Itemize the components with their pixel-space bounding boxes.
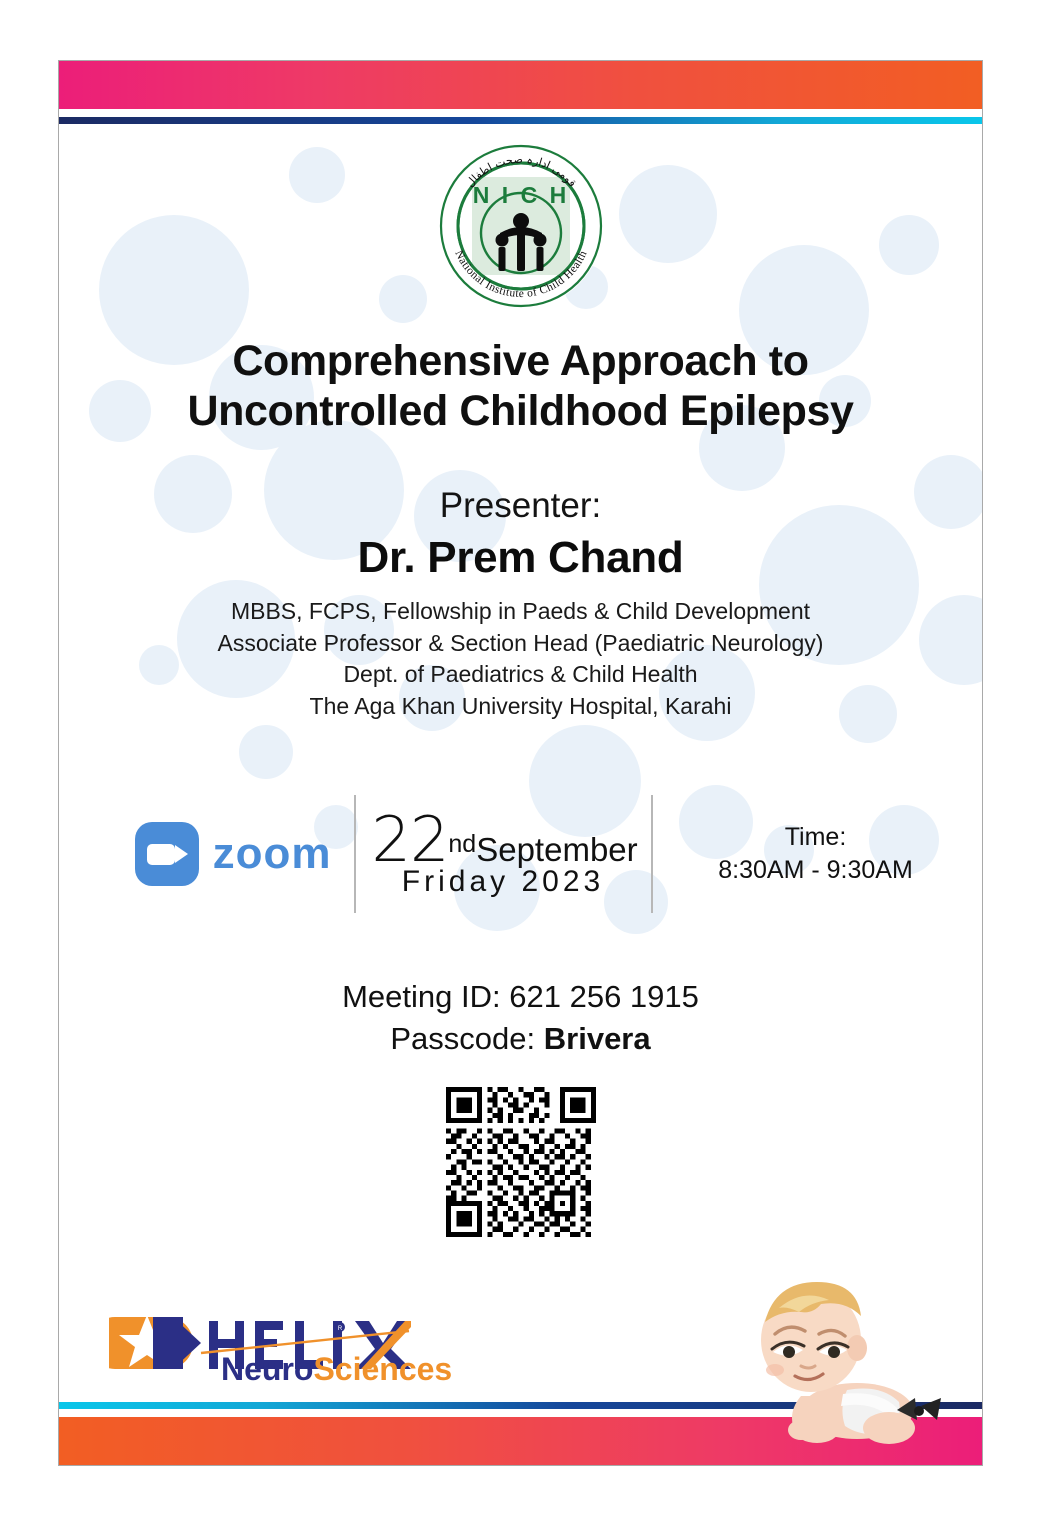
passcode-row: Passcode: Brivera: [59, 1018, 982, 1060]
meeting-id-label: Meeting ID:: [342, 979, 501, 1014]
helix-sub-secondary: Sciences: [313, 1351, 452, 1387]
date-primary-line: 22ndSeptember: [372, 809, 635, 871]
meeting-credentials: Meeting ID: 621 256 1915 Passcode: Brive…: [59, 976, 982, 1060]
title-line-2: Uncontrolled Childhood Epilepsy: [59, 386, 982, 436]
helix-subtitle: NeuroSciences: [221, 1351, 452, 1388]
zoom-platform-logo: zoom: [89, 822, 354, 886]
meeting-id-row: Meeting ID: 621 256 1915: [59, 976, 982, 1018]
credential-line: MBBS, FCPS, Fellowship in Paeds & Child …: [59, 596, 982, 628]
date-month: September: [476, 831, 637, 868]
credential-line: The Aga Khan University Hospital, Karahi: [59, 691, 982, 723]
crawling-baby-graphic: [739, 1278, 954, 1453]
time-label: Time:: [679, 821, 953, 855]
passcode-value: Brivera: [544, 1021, 651, 1056]
helix-neurosciences-logo: R NeuroSciences: [109, 1311, 414, 1403]
title-line-1: Comprehensive Approach to: [59, 336, 982, 386]
event-date: 22ndSeptember Friday 2023: [356, 809, 651, 899]
credential-line: Dept. of Paediatrics & Child Health: [59, 659, 982, 691]
video-camera-icon: [135, 822, 199, 886]
registered-mark: R: [338, 1326, 343, 1332]
event-time: Time: 8:30AM - 9:30AM: [653, 821, 953, 888]
presenter-name: Dr. Prem Chand: [59, 533, 982, 583]
time-value: 8:30AM - 9:30AM: [679, 854, 953, 888]
presenter-label: Presenter:: [59, 486, 982, 526]
credential-line: Associate Professor & Section Head (Paed…: [59, 628, 982, 660]
page-title: Comprehensive Approach to Uncontrolled C…: [59, 336, 982, 437]
event-details-strip: zoom 22ndSeptember Friday 2023 Time: 8:3…: [59, 789, 982, 919]
presenter-credentials: MBBS, FCPS, Fellowship in Paeds & Child …: [59, 596, 982, 723]
passcode-label: Passcode:: [390, 1021, 535, 1056]
flyer-card: N I C H قومی ادارہ صحت اطفال: [58, 60, 983, 1466]
svg-text:N I C H: N I C H: [472, 182, 568, 208]
meeting-id-value: 621 256 1915: [509, 979, 699, 1014]
helix-sub-primary: Neuro: [221, 1351, 313, 1387]
date-weekday-year: Friday 2023: [372, 865, 635, 899]
zoom-wordmark: zoom: [213, 829, 332, 879]
date-ordinal: nd: [448, 830, 476, 858]
nich-logo: N I C H قومی ادارہ صحت اطفال: [436, 141, 606, 311]
qr-code[interactable]: [446, 1083, 596, 1241]
